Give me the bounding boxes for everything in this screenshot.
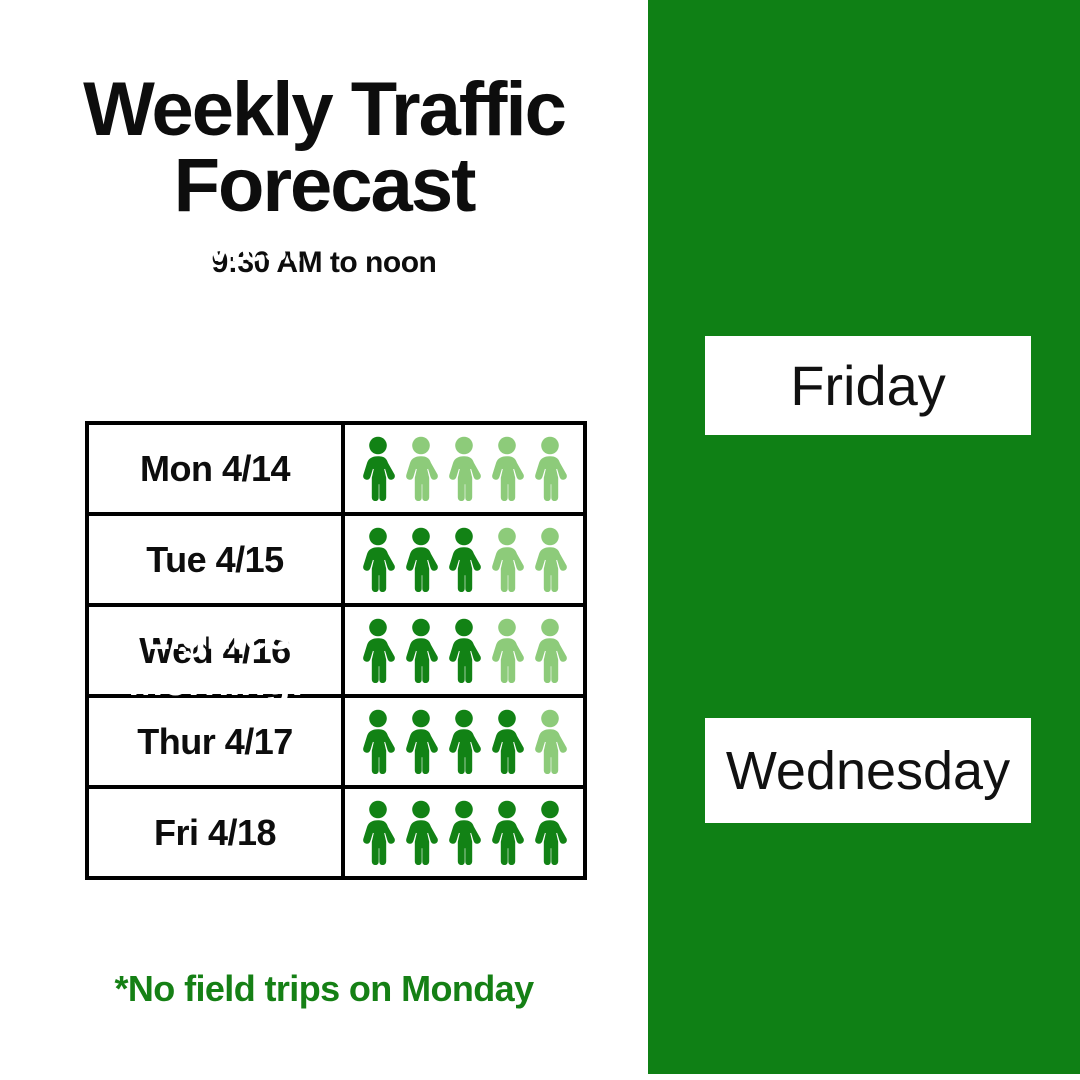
person-icon-filled <box>357 527 399 593</box>
summary-panel <box>648 0 1080 1074</box>
person-icon-filled <box>529 800 571 866</box>
person-icon-empty <box>486 618 528 684</box>
day-label-cell: Tue 4/15 <box>87 514 343 605</box>
footnote-text: *No field trips on Monday <box>0 968 648 1010</box>
page-title: Weekly Traffic Forecast <box>0 72 648 224</box>
person-icon-filled <box>357 800 399 866</box>
day-label-cell: Thur 4/17 <box>87 696 343 787</box>
day-label-cell: Mon 4/14 <box>87 423 343 514</box>
lightest-heading-line-2: Morning: <box>0 658 432 704</box>
person-icon-empty <box>486 527 528 593</box>
heaviest-morning-heading: Heaviest Morning: <box>0 224 432 316</box>
table-row: Tue 4/15 <box>87 514 585 605</box>
person-icon-empty <box>529 618 571 684</box>
heaviest-heading-line-2: Morning: <box>0 270 432 316</box>
person-icon-filled <box>443 527 485 593</box>
person-icon-filled <box>443 618 485 684</box>
lightest-morning-heading: *Lightest Morning: <box>0 612 432 704</box>
person-icon-filled <box>400 527 442 593</box>
pictogram-cell <box>343 514 585 605</box>
person-icon-filled <box>443 709 485 775</box>
pictogram-cell <box>343 423 585 514</box>
people-icon-row <box>345 709 583 775</box>
pictogram-cell <box>343 787 585 878</box>
person-icon-empty <box>486 436 528 502</box>
people-icon-row <box>345 436 583 502</box>
pictogram-cell <box>343 696 585 787</box>
person-icon-empty <box>529 527 571 593</box>
day-label-cell: Fri 4/18 <box>87 787 343 878</box>
heaviest-heading-line-1: Heaviest <box>0 224 432 270</box>
person-icon-filled <box>400 800 442 866</box>
people-icon-row <box>345 527 583 593</box>
table-row: Fri 4/18 <box>87 787 585 878</box>
person-icon-empty <box>443 436 485 502</box>
person-icon-filled <box>357 436 399 502</box>
heaviest-morning-value: Friday <box>790 353 946 418</box>
table-row: Thur 4/17 <box>87 696 585 787</box>
person-icon-filled <box>486 709 528 775</box>
table-row: Mon 4/14 <box>87 423 585 514</box>
person-icon-empty <box>400 436 442 502</box>
heaviest-morning-value-box: Friday <box>705 336 1031 435</box>
lightest-morning-value-box: Wednesday <box>705 718 1031 823</box>
person-icon-empty <box>529 709 571 775</box>
infographic-poster: Weekly Traffic Forecast 9:30 AM to noon … <box>0 0 1080 1080</box>
person-icon-filled <box>443 800 485 866</box>
person-icon-filled <box>357 709 399 775</box>
lightest-morning-value: Wednesday <box>726 740 1010 802</box>
lightest-heading-line-1: *Lightest <box>0 612 432 658</box>
people-icon-row <box>345 800 583 866</box>
person-icon-filled <box>400 709 442 775</box>
person-icon-filled <box>486 800 528 866</box>
person-icon-empty <box>529 436 571 502</box>
